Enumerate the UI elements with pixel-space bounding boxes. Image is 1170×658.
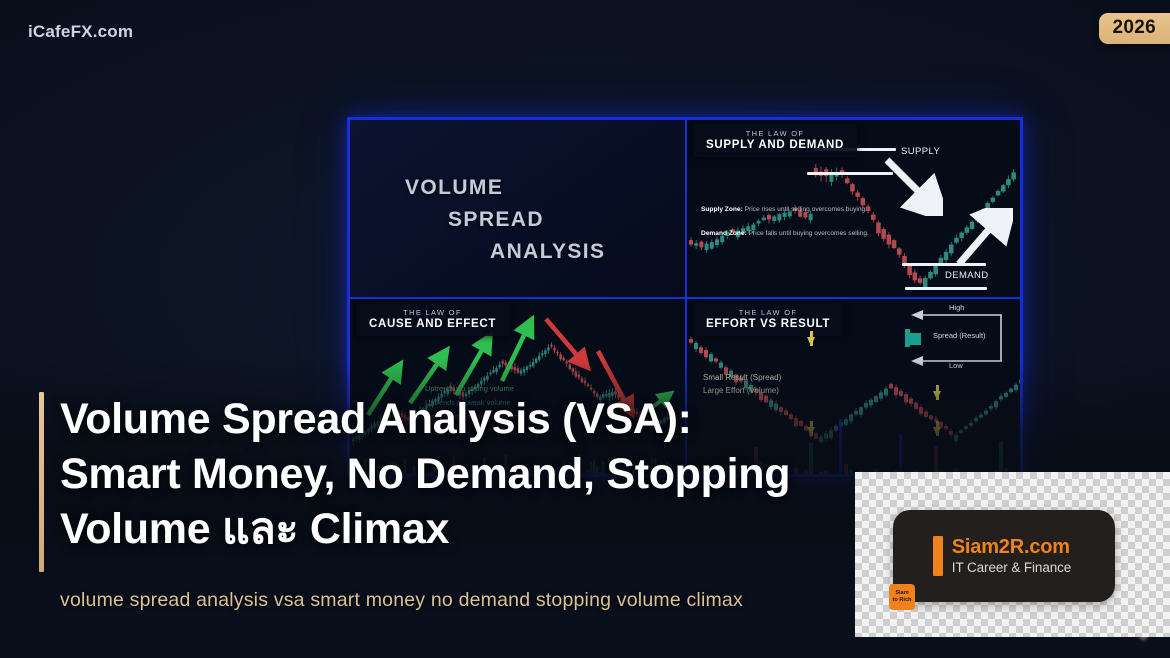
title-accent-bar <box>39 392 44 572</box>
panel-volume-spread-analysis: VOLUME SPREAD ANALYSIS <box>350 120 685 297</box>
watermark-chip-line-2: to Rich <box>893 597 912 604</box>
page-title-line-2: Smart Money, No Demand, Stopping <box>60 447 790 502</box>
slide-canvas: iCafeFX.com 2026 VOLUME SPREAD ANALYSIS … <box>0 0 1170 658</box>
demand-zone-note: Demand Zone: Price falls until buying ov… <box>701 230 869 237</box>
law-title-supply-demand: THE LAW OF SUPPLY AND DEMAND <box>693 124 857 157</box>
year-badge: 2026 <box>1099 13 1170 44</box>
watermark-chip: Siam to Rich <box>889 584 915 610</box>
page-tagline: volume spread analysis vsa smart money n… <box>60 589 743 612</box>
law-heading: CAUSE AND EFFECT <box>369 318 496 330</box>
law-title-cause-effect: THE LAW OF CAUSE AND EFFECT <box>356 303 509 336</box>
supply-zone-term: Supply Zone: <box>701 206 743 213</box>
law-title-effort-result: THE LAW OF EFFORT VS RESULT <box>693 303 843 336</box>
law-heading: EFFORT VS RESULT <box>706 318 830 330</box>
spread-high-label: High <box>949 303 964 312</box>
demand-zone-term: Demand Zone: <box>701 230 747 237</box>
supply-zone-text: Price rises until selling overcomes buyi… <box>743 206 867 213</box>
vsa-word-analysis: ANALYSIS <box>490 240 605 264</box>
title-block: Volume Spread Analysis (VSA): Smart Mone… <box>39 392 790 557</box>
page-title-line-3: Volume และ Climax <box>60 502 790 557</box>
watermark-bar-icon <box>933 536 943 576</box>
page-title-line-1: Volume Spread Analysis (VSA): <box>60 392 790 447</box>
demand-zone-bottom-line <box>905 287 987 290</box>
law-eyebrow: THE LAW OF <box>369 308 496 317</box>
watermark-brand: Siam2R.com <box>952 536 1071 559</box>
watermark-chip-line-1: Siam <box>895 590 908 597</box>
supply-zone-note: Supply Zone: Price rises until selling o… <box>701 206 867 213</box>
law-heading: SUPPLY AND DEMAND <box>706 139 844 151</box>
supply-down-arrow-icon <box>883 156 943 216</box>
effort-marker-arrow-1 <box>807 337 815 346</box>
demand-zone-text: Price falls until buying overcomes selli… <box>747 230 869 237</box>
demand-up-arrow-icon <box>953 208 1013 272</box>
law-eyebrow: THE LAW OF <box>706 129 844 138</box>
watermark-card: Siam2R.com IT Career & Finance <box>893 510 1115 602</box>
page-title: Volume Spread Analysis (VSA): Smart Mone… <box>60 392 790 557</box>
supply-zone-bottom-line <box>807 172 893 175</box>
vsa-word-volume: VOLUME <box>405 176 503 200</box>
panel-supply-and-demand: THE LAW OF SUPPLY AND DEMAND SUPPLY DEMA… <box>685 120 1020 297</box>
vsa-word-spread: SPREAD <box>448 208 544 232</box>
law-eyebrow: THE LAW OF <box>706 308 830 317</box>
site-brand: iCafeFX.com <box>28 22 133 42</box>
watermark-subtitle: IT Career & Finance <box>952 559 1071 576</box>
spread-result-label: Spread (Result) <box>933 331 986 340</box>
watermark-panel: Siam2R.com IT Career & Finance Siam to R… <box>855 472 1170 637</box>
